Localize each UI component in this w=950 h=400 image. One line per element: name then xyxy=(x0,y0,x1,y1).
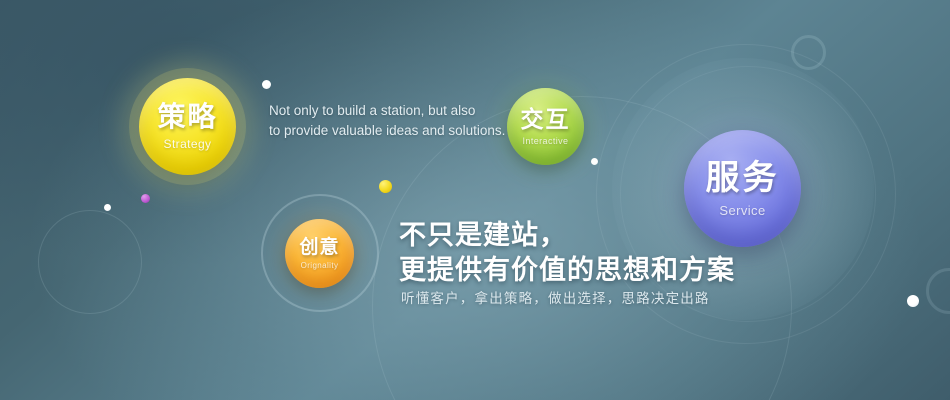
sphere-interactive-en-label: Interactive xyxy=(523,137,569,146)
yellow-dot xyxy=(379,180,392,193)
sphere-interactive[interactable]: 交互 Interactive xyxy=(507,88,584,165)
decorative-ring-top-right xyxy=(791,35,826,70)
headline-line2: 更提供有价值的思想和方案 xyxy=(399,253,735,288)
sphere-orignality-cn-label: 创意 xyxy=(299,238,339,257)
sphere-strategy[interactable]: 策略 Strategy xyxy=(139,78,236,175)
sphere-strategy-en-label: Strategy xyxy=(164,138,212,150)
english-tagline-line2: to provide valuable ideas and solutions. xyxy=(269,121,509,141)
sphere-interactive-cn-label: 交互 xyxy=(521,108,571,131)
decorative-ring-far-right xyxy=(926,268,950,314)
sphere-orignality-en-label: Orignality xyxy=(301,262,339,270)
headline: 不只是建站， 更提供有价值的思想和方案 xyxy=(399,218,735,287)
subheadline: 听懂客户，拿出策略，做出选择，思路决定出路 xyxy=(401,287,710,307)
hero-banner: 策略 Strategy 交互 Interactive 创意 Orignality… xyxy=(0,0,950,400)
english-tagline-line1: Not only to build a station, but also xyxy=(269,101,509,121)
sphere-orignality[interactable]: 创意 Orignality xyxy=(285,219,354,288)
white-dot-center xyxy=(591,158,598,165)
english-tagline: Not only to build a station, but also to… xyxy=(269,101,509,141)
sphere-service-en-label: Service xyxy=(719,204,765,217)
white-dot-top xyxy=(262,80,271,89)
white-dot-right xyxy=(907,295,919,307)
headline-line1: 不只是建站， xyxy=(399,218,735,253)
white-dot-left xyxy=(104,204,111,211)
decorative-ring-left xyxy=(38,210,142,314)
sphere-strategy-cn-label: 策略 xyxy=(157,103,217,131)
purple-dot xyxy=(141,194,150,203)
sphere-service-cn-label: 服务 xyxy=(706,161,780,195)
